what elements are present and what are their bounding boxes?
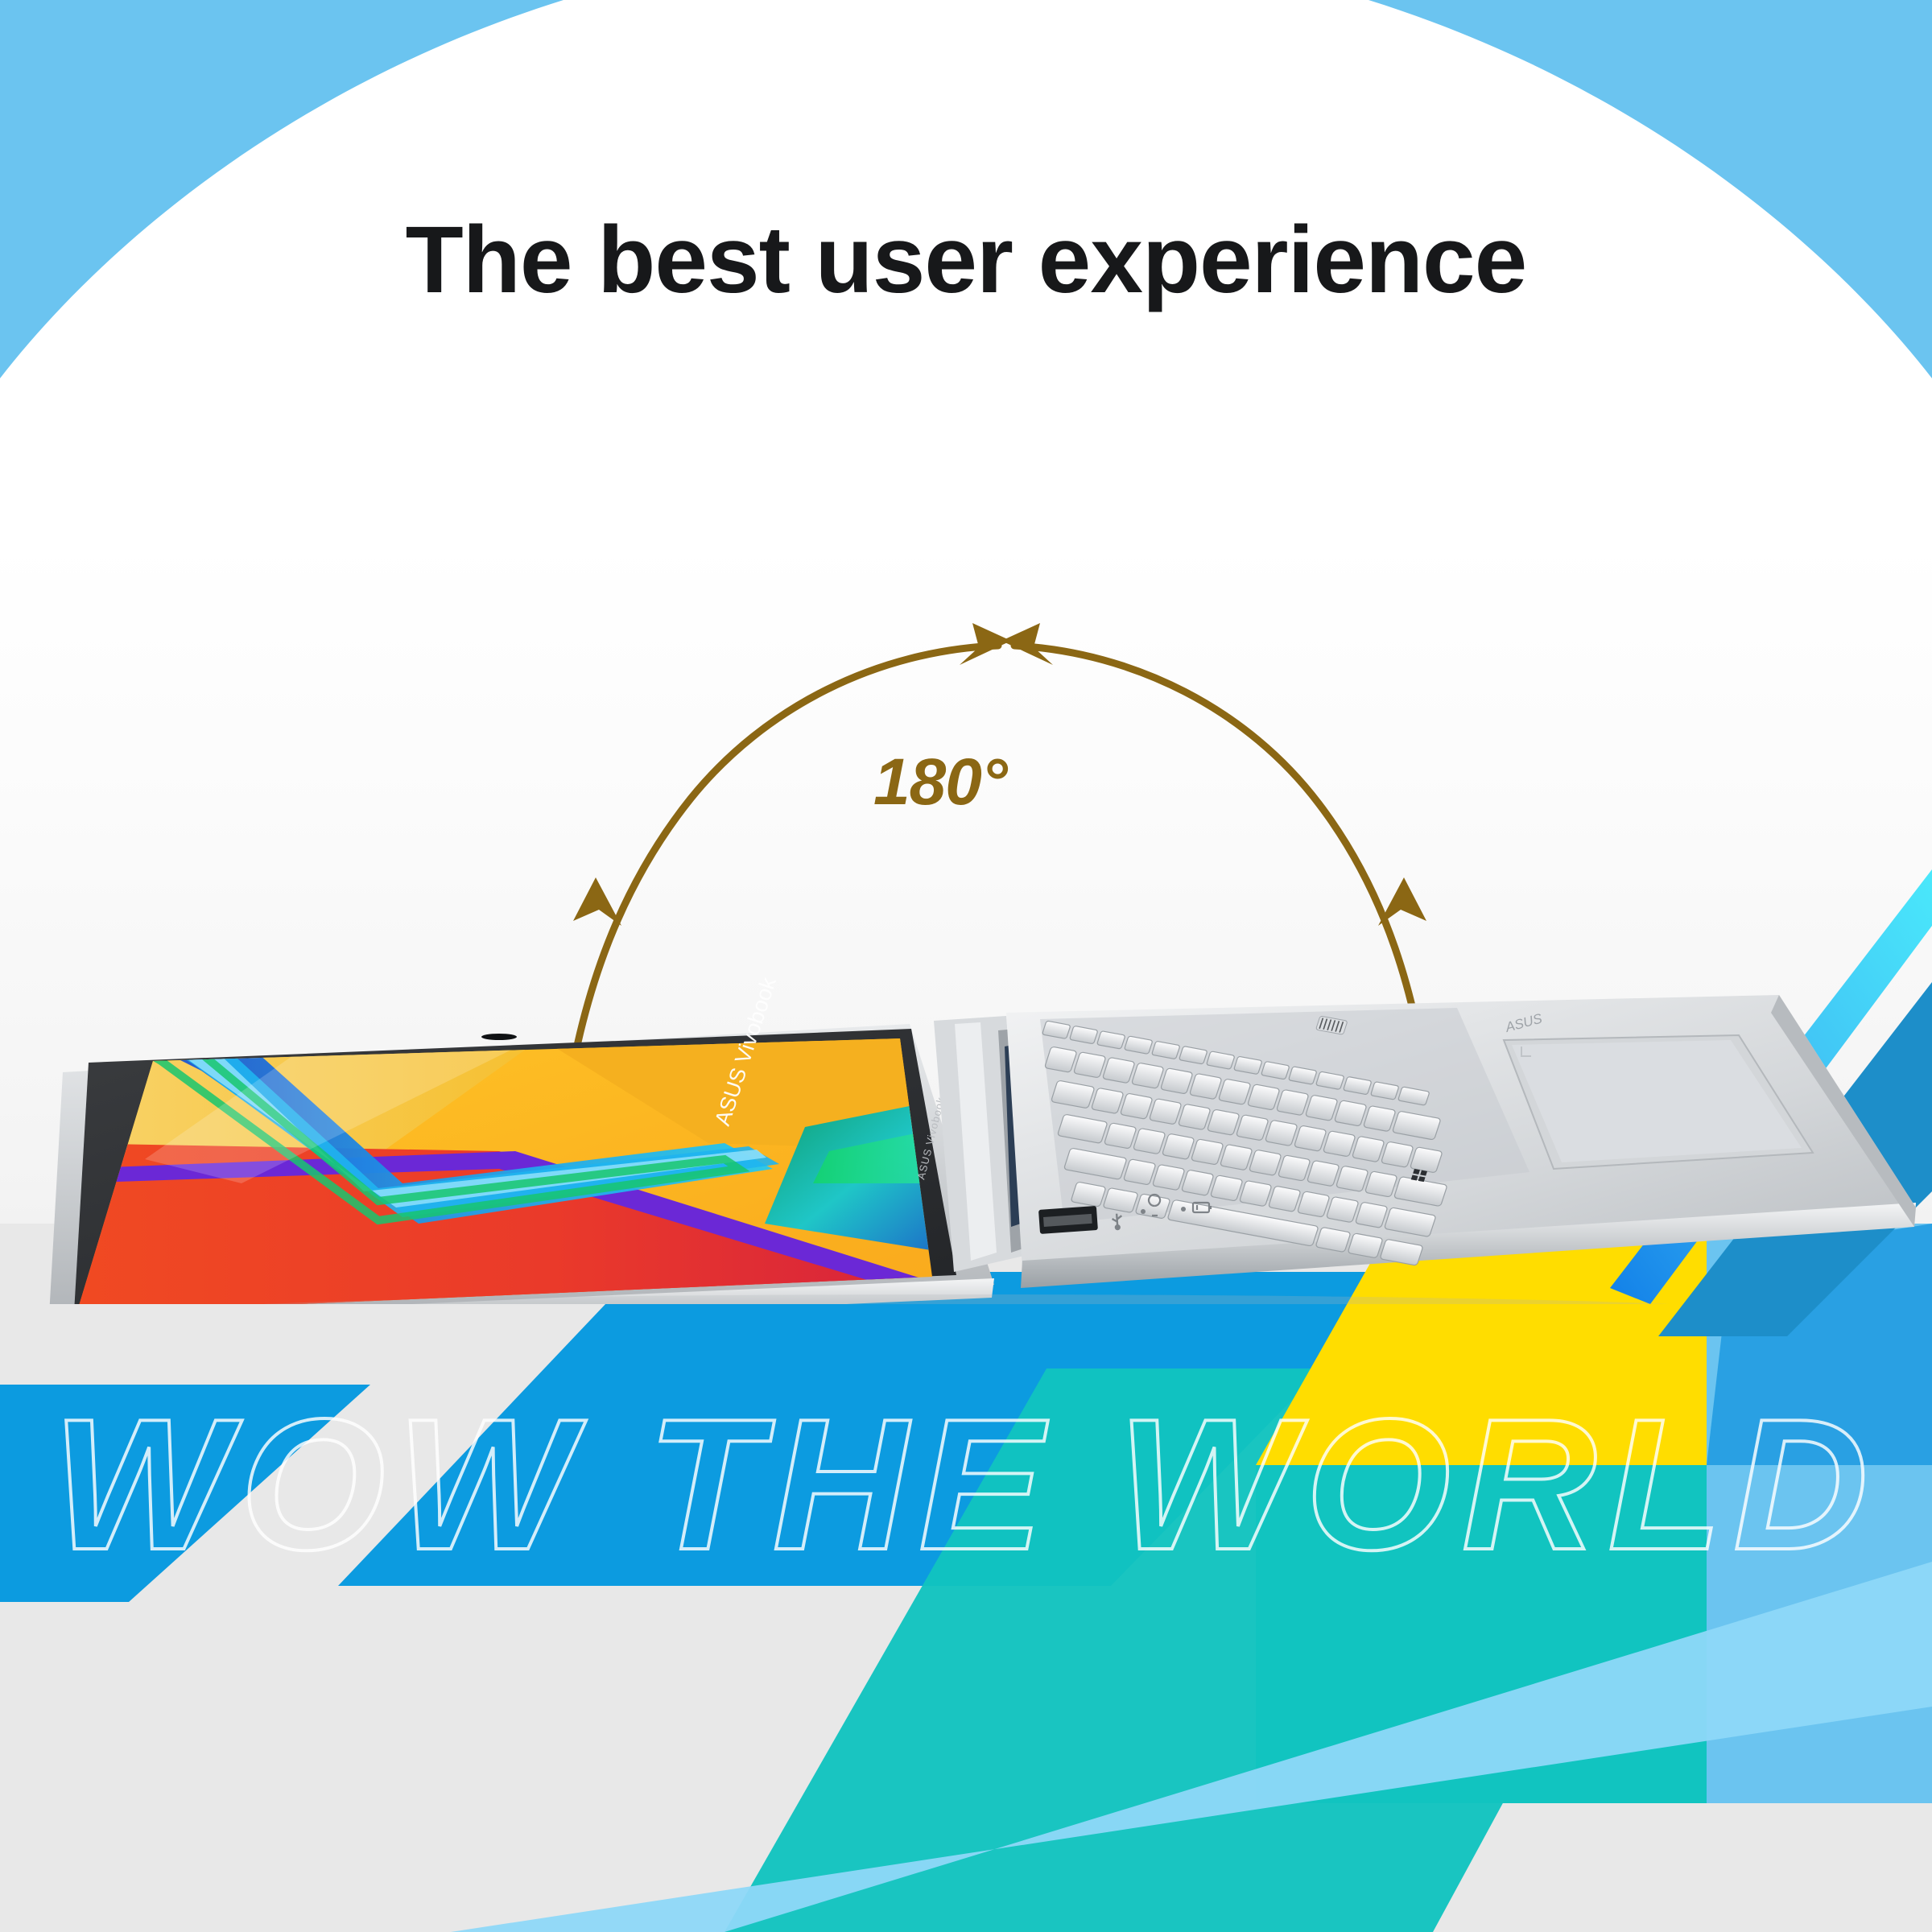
display-screen — [64, 1022, 966, 1304]
brand-tagline-outline: WOW THE WORLD — [0, 1385, 1932, 1594]
battery-led-icon — [1181, 1207, 1186, 1212]
webcam-icon — [481, 1034, 517, 1040]
page-title: The best user experience — [0, 205, 1932, 315]
power-led-icon — [1141, 1209, 1146, 1214]
marketing-banner: The best user experience 180° — [0, 0, 1932, 1932]
laptop-device: ASUS Vivobook ASUS Vivobook — [0, 805, 1932, 1304]
